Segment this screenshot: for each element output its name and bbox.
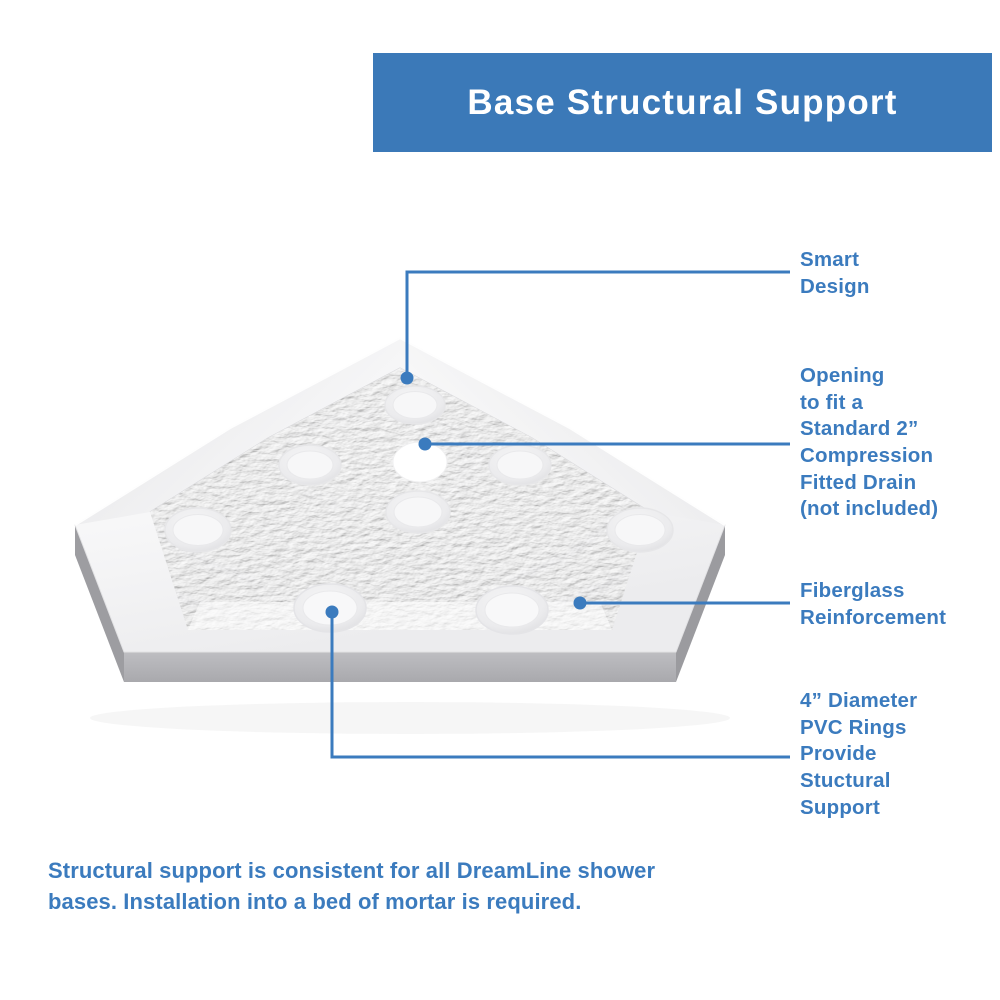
infographic-page: Base Structural Support bbox=[0, 0, 1000, 1000]
pvc-ring-upper-right bbox=[489, 445, 551, 485]
callout-label-pvc-rings: 4” Diameter PVC Rings Provide Stuctural … bbox=[800, 688, 917, 821]
pvc-ring-top bbox=[385, 386, 445, 424]
page-title: Base Structural Support bbox=[467, 85, 897, 120]
pvc-ring-front-right bbox=[476, 586, 548, 634]
pvc-ring-right bbox=[607, 508, 673, 552]
callout-label-drain-opening: Opening to fit a Standard 2” Compression… bbox=[800, 363, 938, 523]
callout-label-fiberglass-reinforcement: Fiberglass Reinforcement bbox=[800, 578, 946, 631]
pvc-ring-upper-left bbox=[279, 445, 341, 485]
floor-front-lip bbox=[188, 602, 612, 630]
shower-base-illustration bbox=[0, 330, 800, 750]
header-banner: Base Structural Support bbox=[373, 53, 992, 152]
product-image bbox=[0, 330, 800, 750]
bottom-caption: Structural support is consistent for all… bbox=[48, 855, 668, 917]
pvc-ring-front-left bbox=[294, 584, 366, 632]
base-shadow bbox=[90, 702, 730, 734]
callout-label-smart-design: Smart Design bbox=[800, 247, 870, 300]
drain-opening bbox=[393, 442, 447, 482]
pvc-ring-left bbox=[165, 508, 231, 552]
pvc-ring-center bbox=[386, 491, 450, 533]
